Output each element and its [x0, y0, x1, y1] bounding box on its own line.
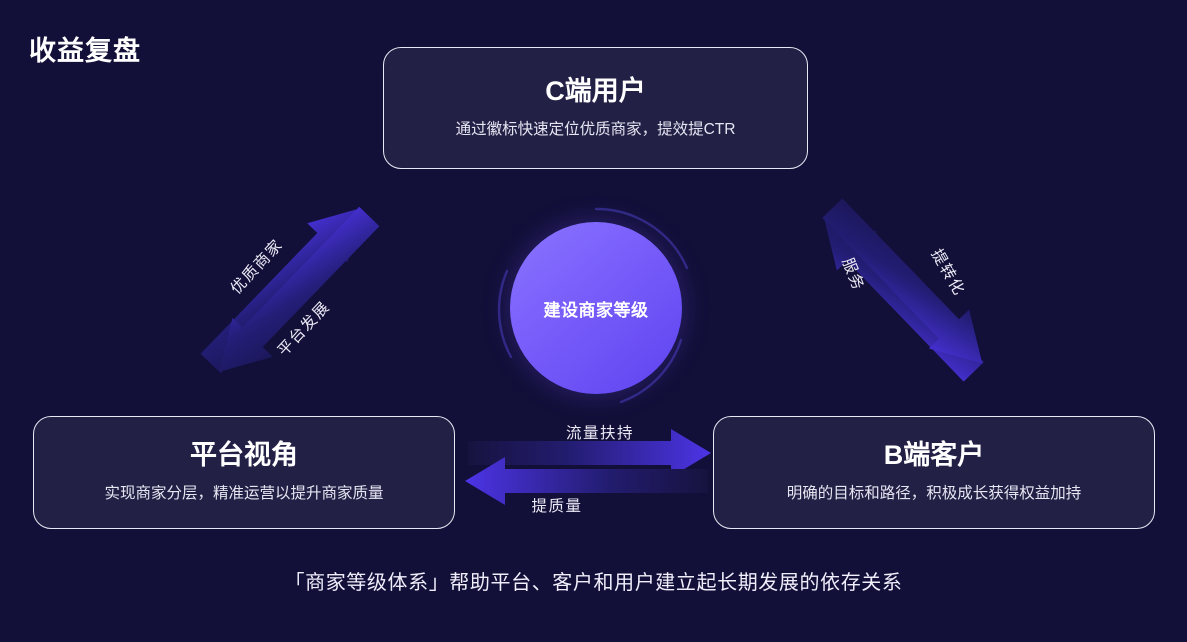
- edge-label-quality-volume: 提质量: [497, 494, 617, 516]
- node-title-business: B端客户: [884, 440, 985, 471]
- node-title-consumer: C端用户: [545, 76, 646, 107]
- node-card-consumer[interactable]: C端用户 通过徽标快速定位优质商家，提效提CTR: [383, 47, 808, 169]
- node-title-platform: 平台视角: [190, 440, 298, 471]
- hub-circle: 建设商家等级: [510, 222, 682, 394]
- edge-label-conversion: 提转化: [909, 215, 988, 330]
- center-hub: 建设商家等级: [510, 222, 682, 394]
- edge-label-traffic-support: 流量扶持: [540, 421, 660, 443]
- edge-label-platform-growth: 平台发展: [254, 277, 352, 380]
- diagram-canvas: 收益复盘: [0, 0, 1187, 642]
- footer-note: 「商家等级体系」帮助平台、客户和用户建立起长期发展的依存关系: [0, 566, 1187, 595]
- node-card-business[interactable]: B端客户 明确的目标和路径，积极成长获得权益加持: [713, 416, 1155, 529]
- page-title: 收益复盘: [29, 29, 141, 68]
- edge-label-service: 服务: [821, 214, 886, 334]
- node-desc-business: 明确的目标和路径，积极成长获得权益加持: [787, 484, 1082, 504]
- hub-label: 建设商家等级: [544, 296, 649, 321]
- node-desc-consumer: 通过徽标快速定位优质商家，提效提CTR: [456, 120, 736, 140]
- node-card-platform[interactable]: 平台视角 实现商家分层，精准运营以提升商家质量: [33, 416, 455, 529]
- node-desc-platform: 实现商家分层，精准运营以提升商家质量: [104, 484, 383, 504]
- edge-label-quality: 优质商家: [207, 215, 305, 318]
